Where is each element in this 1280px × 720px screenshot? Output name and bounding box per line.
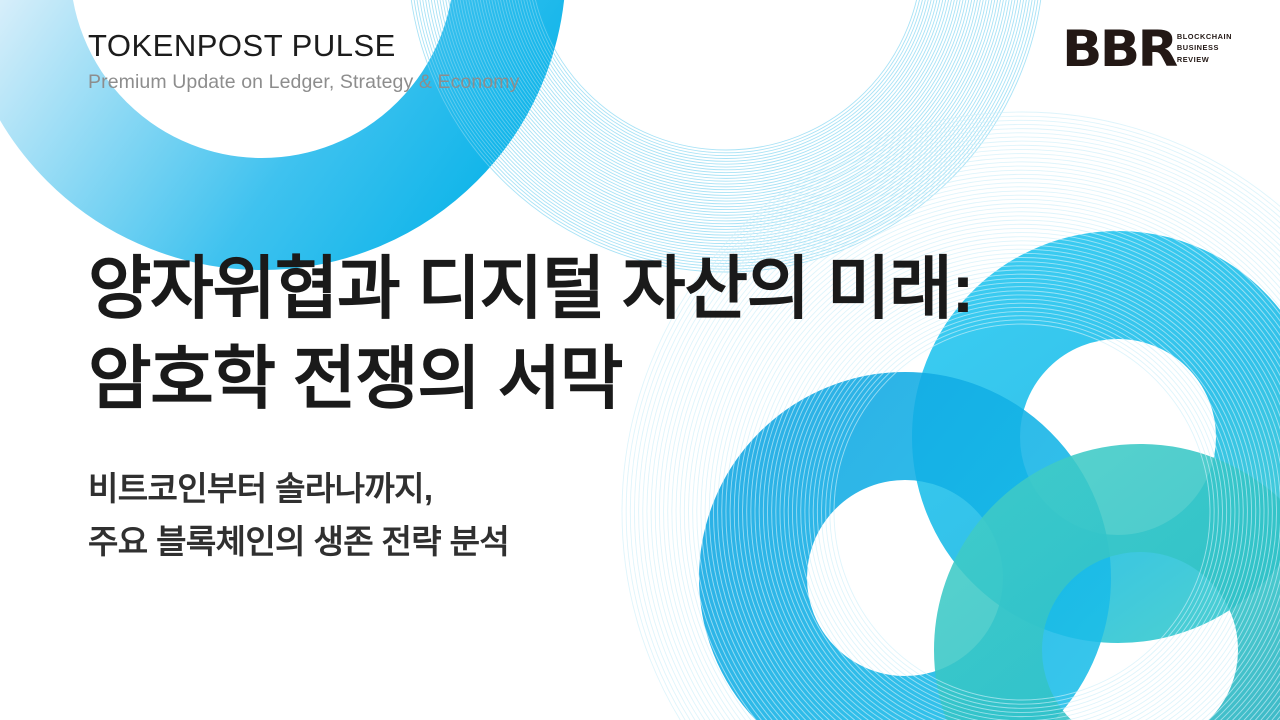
ring-cyan (966, 285, 1270, 589)
subtitle-line-2: 주요 블록체인의 생존 전략 분석 (88, 515, 509, 568)
ring-teal (988, 498, 1280, 720)
publication-tagline: Premium Update on Ledger, Strategy & Eco… (88, 71, 519, 94)
bbr-logo: BBR BLOCKCHAIN BUSINESS REVIEW (1062, 26, 1232, 74)
title-slide: TOKENPOST PULSE Premium Update on Ledger… (0, 0, 1280, 720)
page-title: 양자위협과 디지털 자산의 미래: 암호학 전쟁의 서막 (88, 244, 973, 423)
bbr-wordmark: BBR (1062, 26, 1176, 74)
title-line-2: 암호학 전쟁의 서막 (88, 334, 973, 424)
page-subtitle: 비트코인부터 솔라나까지, 주요 블록체인의 생존 전략 분석 (88, 462, 509, 569)
publication-title: TOKENPOST PULSE (88, 28, 519, 65)
subtitle-line-1: 비트코인부터 솔라나까지, (88, 462, 509, 515)
bbr-logo-subtext: BLOCKCHAIN BUSINESS REVIEW (1177, 31, 1232, 65)
header-block: TOKENPOST PULSE Premium Update on Ledger… (88, 28, 519, 94)
title-line-1: 양자위협과 디지털 자산의 미래: (88, 244, 973, 334)
ring-blue (753, 426, 1057, 720)
bbr-logo-line-2: BUSINESS (1177, 42, 1232, 53)
bbr-logo-line-1: BLOCKCHAIN (1177, 31, 1232, 42)
bbr-logo-line-3: REVIEW (1177, 54, 1232, 65)
